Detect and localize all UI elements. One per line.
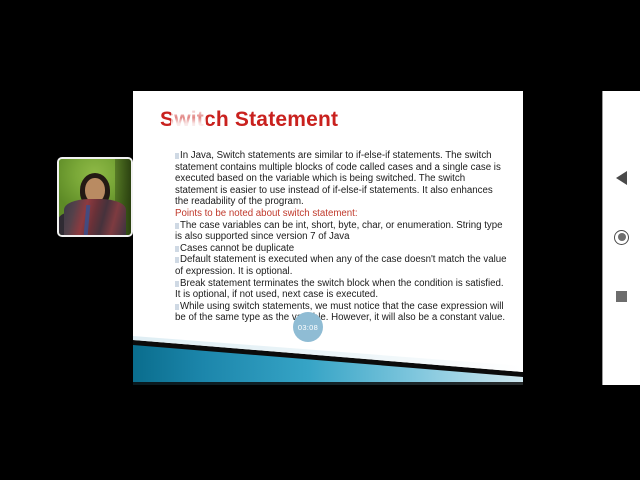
slide-paragraph: Default statement is executed when any o…	[175, 254, 507, 277]
record-dot	[618, 233, 626, 241]
bullet-square-icon	[175, 257, 179, 263]
bullet-square-icon	[175, 223, 179, 229]
screen-root: Switch Statement In Java, Switch stateme…	[0, 0, 640, 480]
control-rail	[602, 91, 640, 385]
slide-paragraph: Break statement terminates the switch bl…	[175, 278, 507, 290]
slide-paragraph: While using switch statements, we must n…	[175, 301, 507, 324]
slide-paragraph: Cases cannot be duplicate	[175, 243, 507, 255]
presentation-slide: Switch Statement In Java, Switch stateme…	[133, 91, 523, 385]
record-button[interactable]	[613, 228, 631, 246]
bullet-square-icon	[175, 246, 179, 252]
paragraph-text: In Java, Switch statements are similar t…	[175, 150, 501, 207]
slide-paragraph-heading: Points to be noted about switch statemen…	[175, 208, 507, 220]
slide-paragraph: In Java, Switch statements are similar t…	[175, 150, 507, 208]
slide-paragraph: It is optional, if not used, next case i…	[175, 289, 507, 301]
paragraph-text: Points to be noted about switch statemen…	[175, 208, 358, 219]
stop-button[interactable]	[613, 287, 631, 305]
record-circle-icon	[614, 230, 629, 245]
triangle-left-icon	[616, 171, 627, 185]
paragraph-text: Break statement terminates the switch bl…	[180, 278, 504, 289]
bullet-square-icon	[175, 153, 179, 159]
paragraph-text: The case variables can be int, short, by…	[175, 220, 503, 243]
wave-svg	[133, 336, 523, 385]
bullet-square-icon	[175, 304, 179, 310]
presenter-webcam[interactable]	[57, 157, 133, 237]
paragraph-text: Default statement is executed when any o…	[175, 254, 507, 277]
bullet-square-icon	[175, 281, 179, 287]
webcam-person-garment	[64, 199, 126, 235]
slide-wave-decoration	[133, 336, 523, 385]
slide-paragraph: The case variables can be int, short, by…	[175, 220, 507, 243]
paragraph-text: Cases cannot be duplicate	[180, 243, 294, 254]
paragraph-text: While using switch statements, we must n…	[175, 301, 505, 324]
stop-square-icon	[616, 291, 627, 302]
timer-badge: 03:08	[293, 312, 323, 342]
slide-title: Switch Statement	[160, 108, 338, 132]
previous-button[interactable]	[613, 169, 631, 187]
slide-body: In Java, Switch statements are similar t…	[175, 150, 507, 324]
timer-value: 03:08	[298, 323, 318, 332]
paragraph-text: It is optional, if not used, next case i…	[175, 289, 378, 300]
